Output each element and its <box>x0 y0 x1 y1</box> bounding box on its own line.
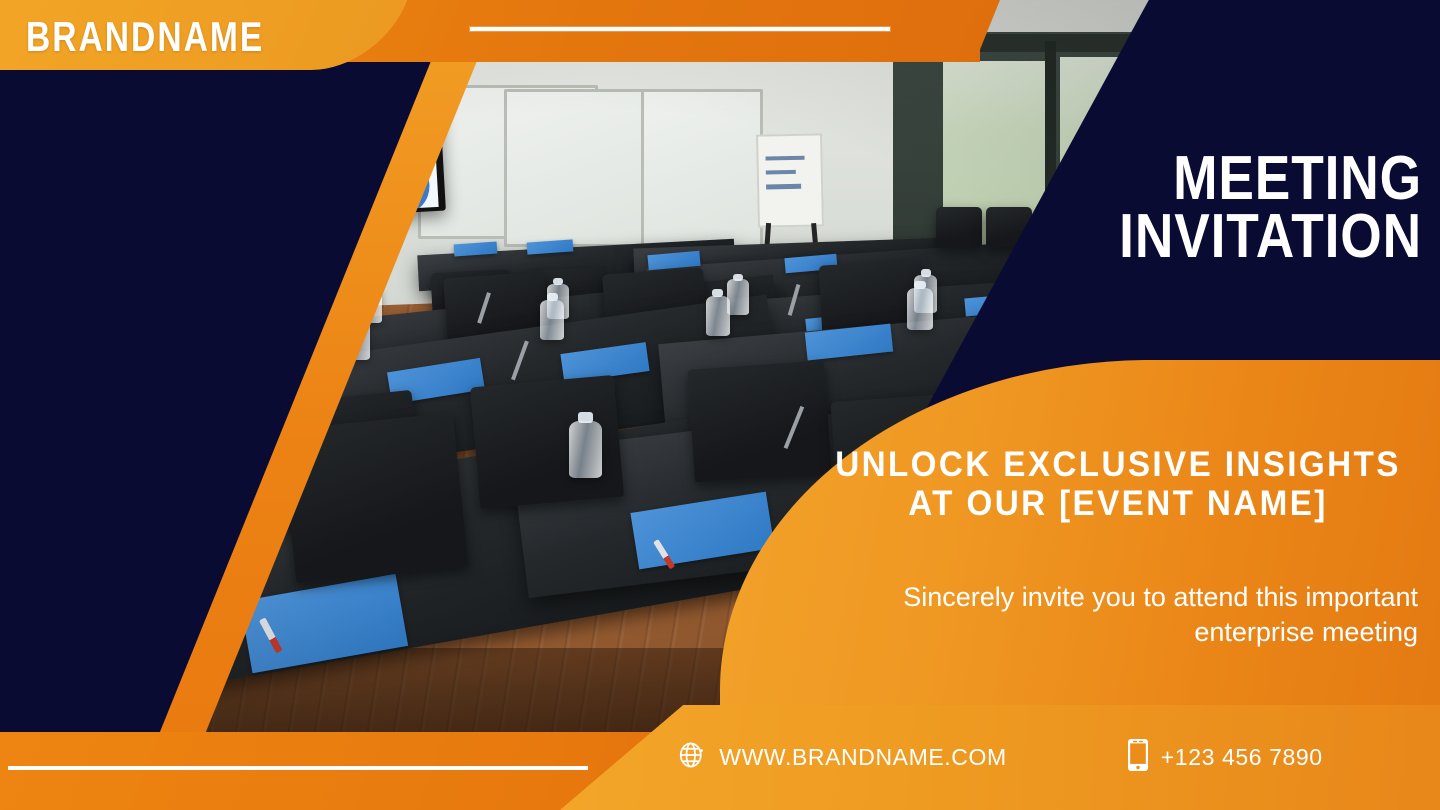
footer-contact-group: WWW.BRANDNAME.COM +123 456 7890 <box>560 705 1440 810</box>
title-line-2: INVITATION <box>1009 208 1422 266</box>
website-url: WWW.BRANDNAME.COM <box>719 744 1006 771</box>
headline-line-2: AT OUR [EVENT NAME] <box>833 484 1403 523</box>
meeting-invitation-poster: BRANDNAME MEETING INVITATION UNLOCK EXCL… <box>0 0 1440 810</box>
footer-divider-line <box>8 766 588 770</box>
title-line-1: MEETING <box>1009 150 1422 208</box>
top-divider-line <box>470 27 890 31</box>
headline: UNLOCK EXCLUSIVE INSIGHTS AT OUR [EVENT … <box>818 445 1418 523</box>
page-title: MEETING INVITATION <box>942 150 1422 265</box>
headline-line-1: UNLOCK EXCLUSIVE INSIGHTS <box>833 445 1403 484</box>
smartphone-icon <box>1127 738 1149 777</box>
website-contact[interactable]: WWW.BRANDNAME.COM <box>677 740 1006 775</box>
phone-contact[interactable]: +123 456 7890 <box>1127 738 1323 777</box>
brand-name: BRANDNAME <box>26 13 264 61</box>
invitation-body-text: Sincerely invite you to attend this impo… <box>798 580 1418 649</box>
globe-icon <box>677 740 707 775</box>
phone-number: +123 456 7890 <box>1161 744 1323 771</box>
